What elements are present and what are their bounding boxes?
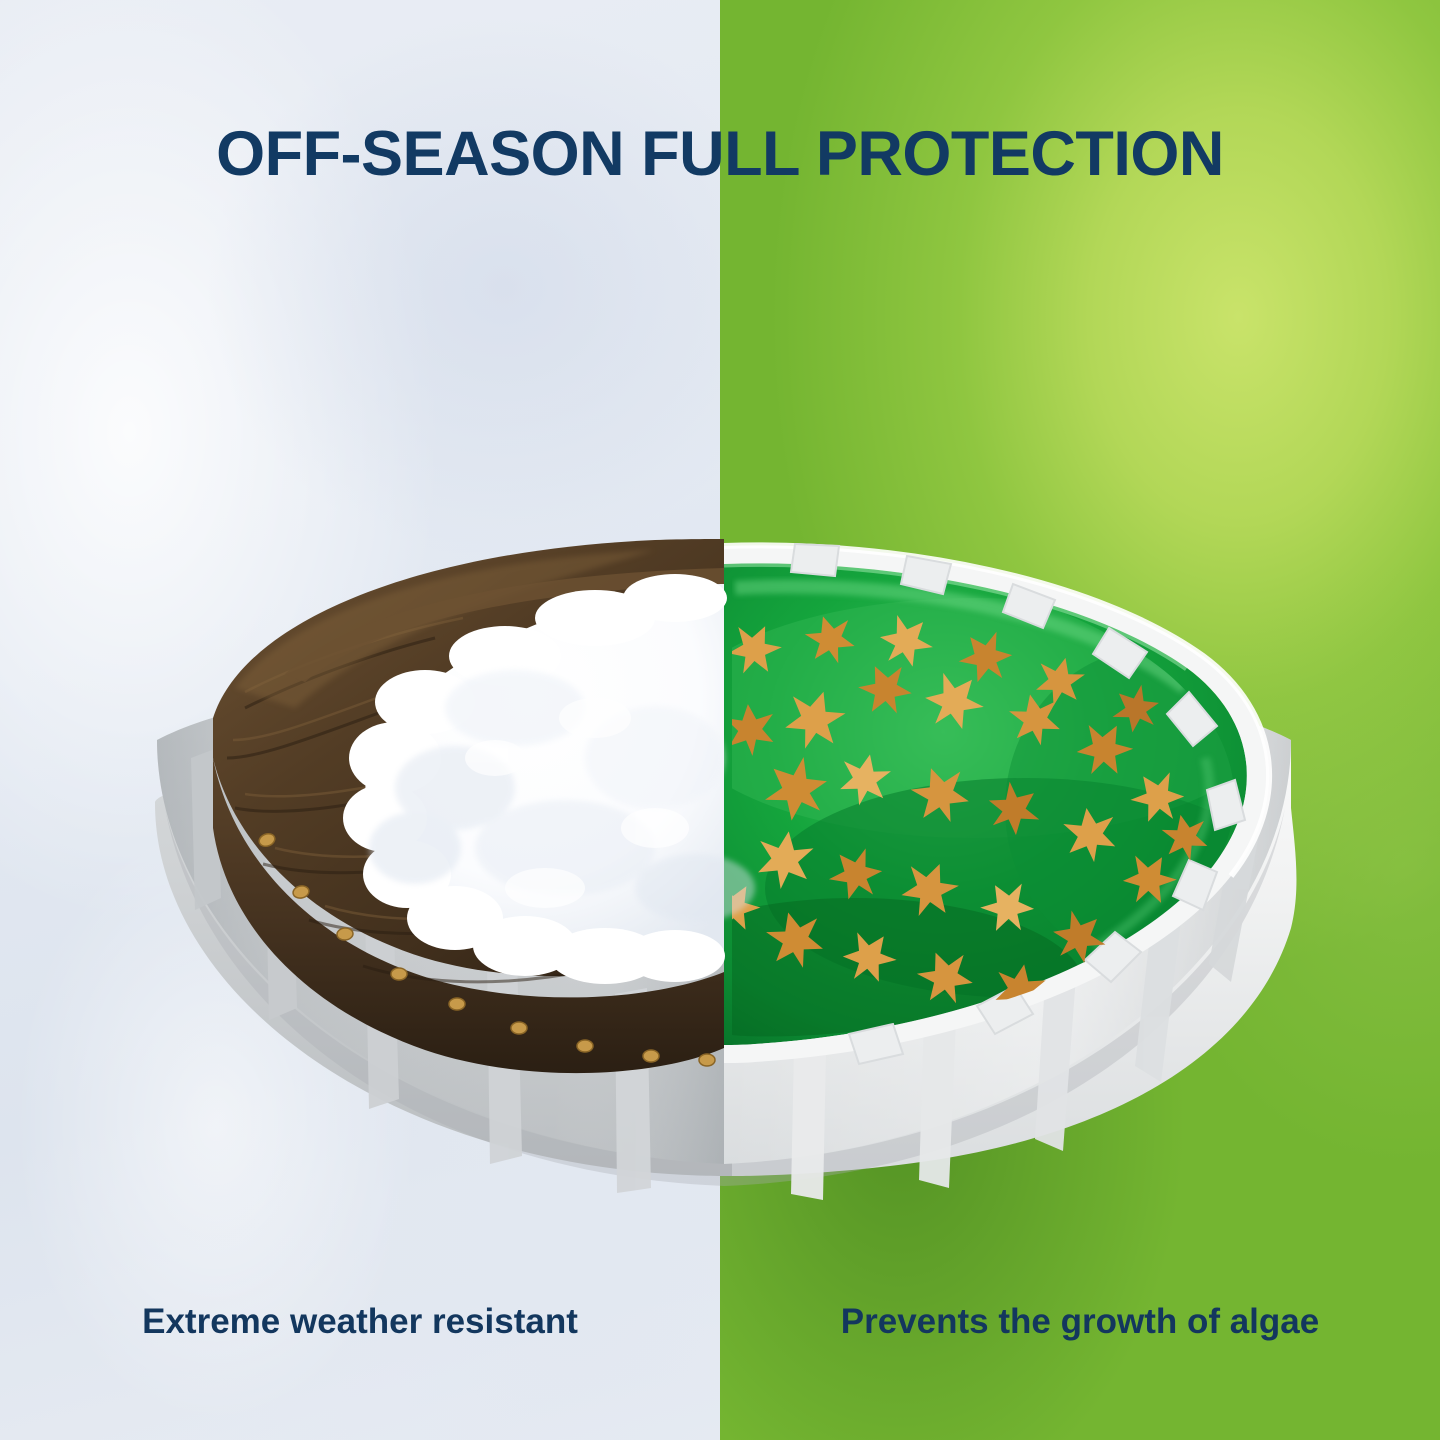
page-title: OFF-SEASON FULL PROTECTION	[0, 118, 1440, 190]
caption-left: Extreme weather resistant	[0, 1300, 720, 1344]
pool-illustration	[95, 288, 1353, 1208]
poster-canvas: OFF-SEASON FULL PROTECTION	[0, 0, 1440, 1440]
caption-right: Prevents the growth of algae	[720, 1300, 1440, 1344]
